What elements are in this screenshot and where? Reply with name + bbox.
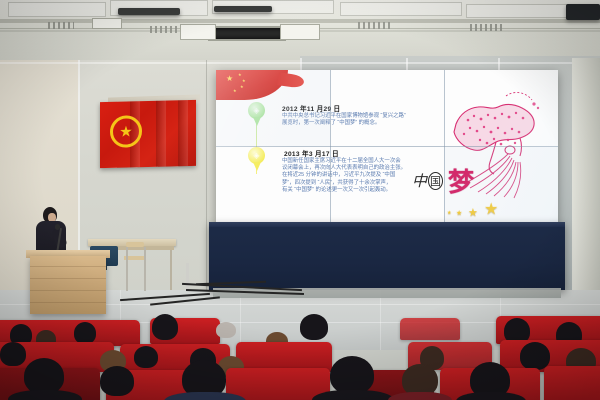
wall-pillar <box>572 58 600 314</box>
star-icon: ★ <box>119 124 132 139</box>
podium-grain <box>30 278 106 279</box>
audience-member <box>0 342 26 366</box>
ceiling-projector <box>118 8 180 15</box>
audience-member <box>216 322 236 338</box>
ceiling-grille <box>470 24 504 31</box>
auditorium-seat-row <box>400 318 460 340</box>
flag-fold <box>178 100 188 166</box>
desk-leg <box>170 250 172 290</box>
audience-member-shoulders <box>164 392 246 400</box>
ceiling-panel <box>340 2 462 16</box>
podium-grain <box>30 266 106 267</box>
ceiling-diffuser <box>180 24 216 40</box>
calligraphy-zhong: 中 <box>412 170 427 191</box>
ceiling-diffuser <box>280 24 320 40</box>
chair-leg <box>126 247 128 291</box>
chair-leg <box>144 247 146 291</box>
video-wall-cabinet <box>209 222 565 290</box>
audience-member <box>134 346 158 368</box>
ceiling-projector <box>214 6 272 12</box>
ceiling-beam <box>0 19 600 23</box>
ceiling-equipment <box>566 4 600 20</box>
wooden-podium <box>30 256 106 314</box>
calligraphy-guo: 国 <box>428 172 443 190</box>
podium-grain <box>30 290 106 291</box>
audience-member-shoulders <box>456 392 526 400</box>
audience-member <box>330 356 374 394</box>
audience-member <box>152 314 178 340</box>
ceiling-grille <box>150 26 180 33</box>
ceiling-diffuser <box>92 18 122 29</box>
stacking-chair-back <box>126 242 144 247</box>
lcd-video-wall: ★ ★ ★ ★ ★ ◈ 2012 年11 月29 日 中共中央总书记习近平在国家… <box>216 70 558 223</box>
timeline-marker-2: ◈ <box>248 147 265 164</box>
ceiling-panel <box>8 2 106 17</box>
audience-member-shoulders <box>8 390 82 400</box>
auditorium-seat-row <box>544 366 600 400</box>
ceiling-air-vent <box>208 26 286 41</box>
audience-member <box>24 358 64 394</box>
audience-member-shoulders <box>388 392 452 400</box>
microphone-head <box>55 224 60 230</box>
lcd-panel <box>444 147 558 223</box>
flag-fold <box>156 101 166 167</box>
ceiling-grille <box>48 22 74 29</box>
audience-member <box>74 322 96 344</box>
lcd-bezel-seam <box>216 146 558 147</box>
lecture-hall-photo: ★ ★ ★ ★ ★ ★ ◈ 2012 年11 月29 日 中共中央总书记习近平在… <box>0 0 600 400</box>
diamond-icon: ◈ <box>253 152 259 160</box>
audience-seating <box>0 312 600 400</box>
ceiling-grille <box>358 22 392 29</box>
slide-body-2: 中国新任国家主席习近平在十二届全国人大一次会 议闭幕会上，再次向人大代表表明自己… <box>282 158 432 194</box>
audience-member <box>100 366 134 396</box>
cabinet-top-edge <box>209 222 565 227</box>
wall-seam <box>206 60 207 296</box>
podium-grain <box>30 302 106 303</box>
lcd-panel <box>216 70 330 146</box>
audience-member <box>300 314 328 340</box>
youth-league-flag: ★ <box>100 100 196 168</box>
audience-member-shoulders <box>312 390 394 400</box>
